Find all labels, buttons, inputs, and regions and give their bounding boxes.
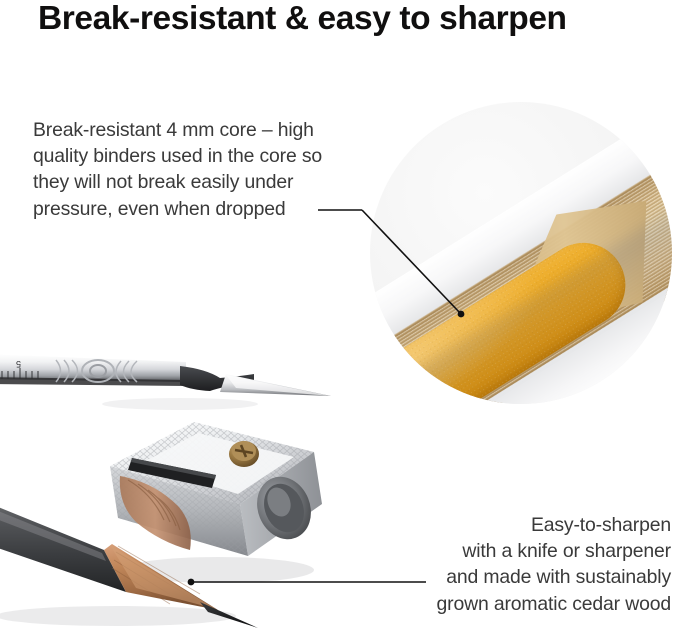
callout-line: quality binders used in the core so	[33, 143, 363, 169]
callout-line: they will not break easily under	[33, 169, 363, 195]
easy-to-sharpen-callout: Easy-to-sharpen with a knife or sharpene…	[355, 512, 671, 617]
scalpel-knife-image: 5	[0, 330, 335, 412]
page-title: Break-resistant & easy to sharpen	[38, 0, 658, 40]
callout-line: grown aromatic cedar wood	[355, 591, 671, 617]
callout-line: with a knife or sharpener	[355, 538, 671, 564]
callout-line: and made with sustainably	[355, 564, 671, 590]
callout-line: pressure, even when dropped	[33, 196, 363, 222]
svg-text:5: 5	[16, 359, 21, 369]
core-closeup-image	[370, 102, 672, 404]
callout-line: Easy-to-sharpen	[355, 512, 671, 538]
sharpened-pencil-image	[0, 488, 286, 636]
product-infographic: Break-resistant & easy to sharpen Break-…	[0, 0, 679, 636]
break-resistant-core-callout: Break-resistant 4 mm core – high quality…	[33, 117, 363, 222]
callout-line: Break-resistant 4 mm core – high	[33, 117, 363, 143]
